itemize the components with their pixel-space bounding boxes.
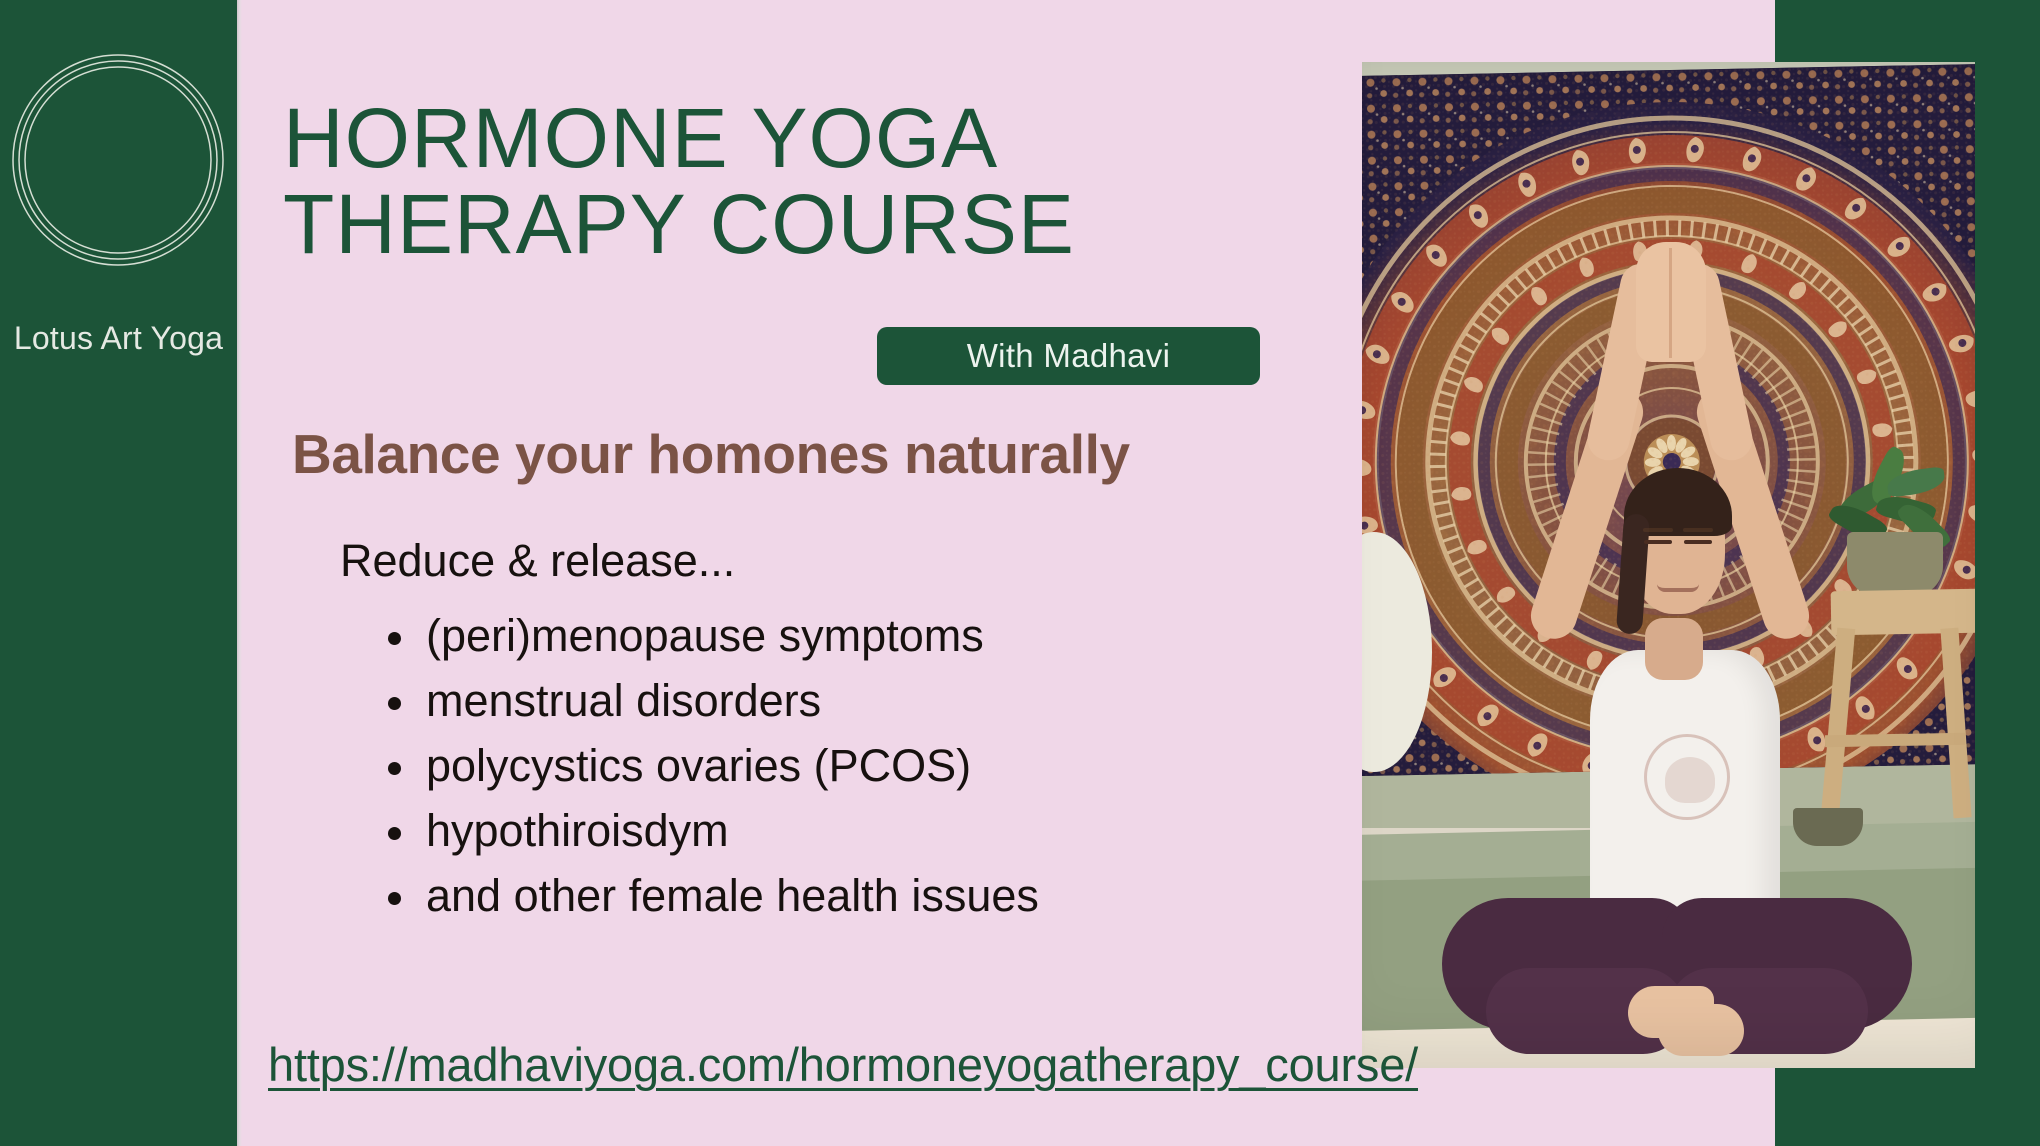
hand-split-line <box>1669 248 1672 358</box>
list-item: menstrual disorders <box>380 668 1039 733</box>
eyebrow-right <box>1683 528 1713 532</box>
shirt-emblem <box>1644 734 1730 820</box>
eye-right <box>1684 540 1712 544</box>
page-title: Hormone Yoga Therapy Course <box>283 96 1283 267</box>
list-item: hypothiroisdym <box>380 798 1039 863</box>
mouth <box>1657 584 1699 592</box>
yoga-photo <box>1362 62 1975 1068</box>
yoga-practitioner <box>1362 62 1975 1068</box>
instructor-badge-label: With Madhavi <box>967 337 1171 375</box>
instructor-badge: With Madhavi <box>877 327 1260 385</box>
benefits-list: (peri)menopause symptoms menstrual disor… <box>380 603 1039 928</box>
brand-name: Lotus Art Yoga <box>0 318 237 358</box>
panel-seam <box>237 0 242 1146</box>
crossed-legs <box>1442 880 1912 1060</box>
list-item: (peri)menopause symptoms <box>380 603 1039 668</box>
flower-of-life-icon <box>10 52 226 268</box>
subtitle: Balance your homones naturally <box>292 422 1372 486</box>
list-item: and other female health issues <box>380 863 1039 928</box>
eyebrow-left <box>1643 528 1673 532</box>
list-item: polycystics ovaries (PCOS) <box>380 733 1039 798</box>
flyer-canvas: Lotus Art Yoga Hormone Yoga Therapy Cour… <box>0 0 2040 1146</box>
eye-left <box>1644 540 1672 544</box>
foot-right <box>1658 1004 1744 1056</box>
course-url-link[interactable]: https://madhaviyoga.com/hormoneyogathera… <box>268 1037 1418 1092</box>
neck <box>1645 618 1703 680</box>
benefits-lead: Reduce & release... <box>340 535 735 587</box>
